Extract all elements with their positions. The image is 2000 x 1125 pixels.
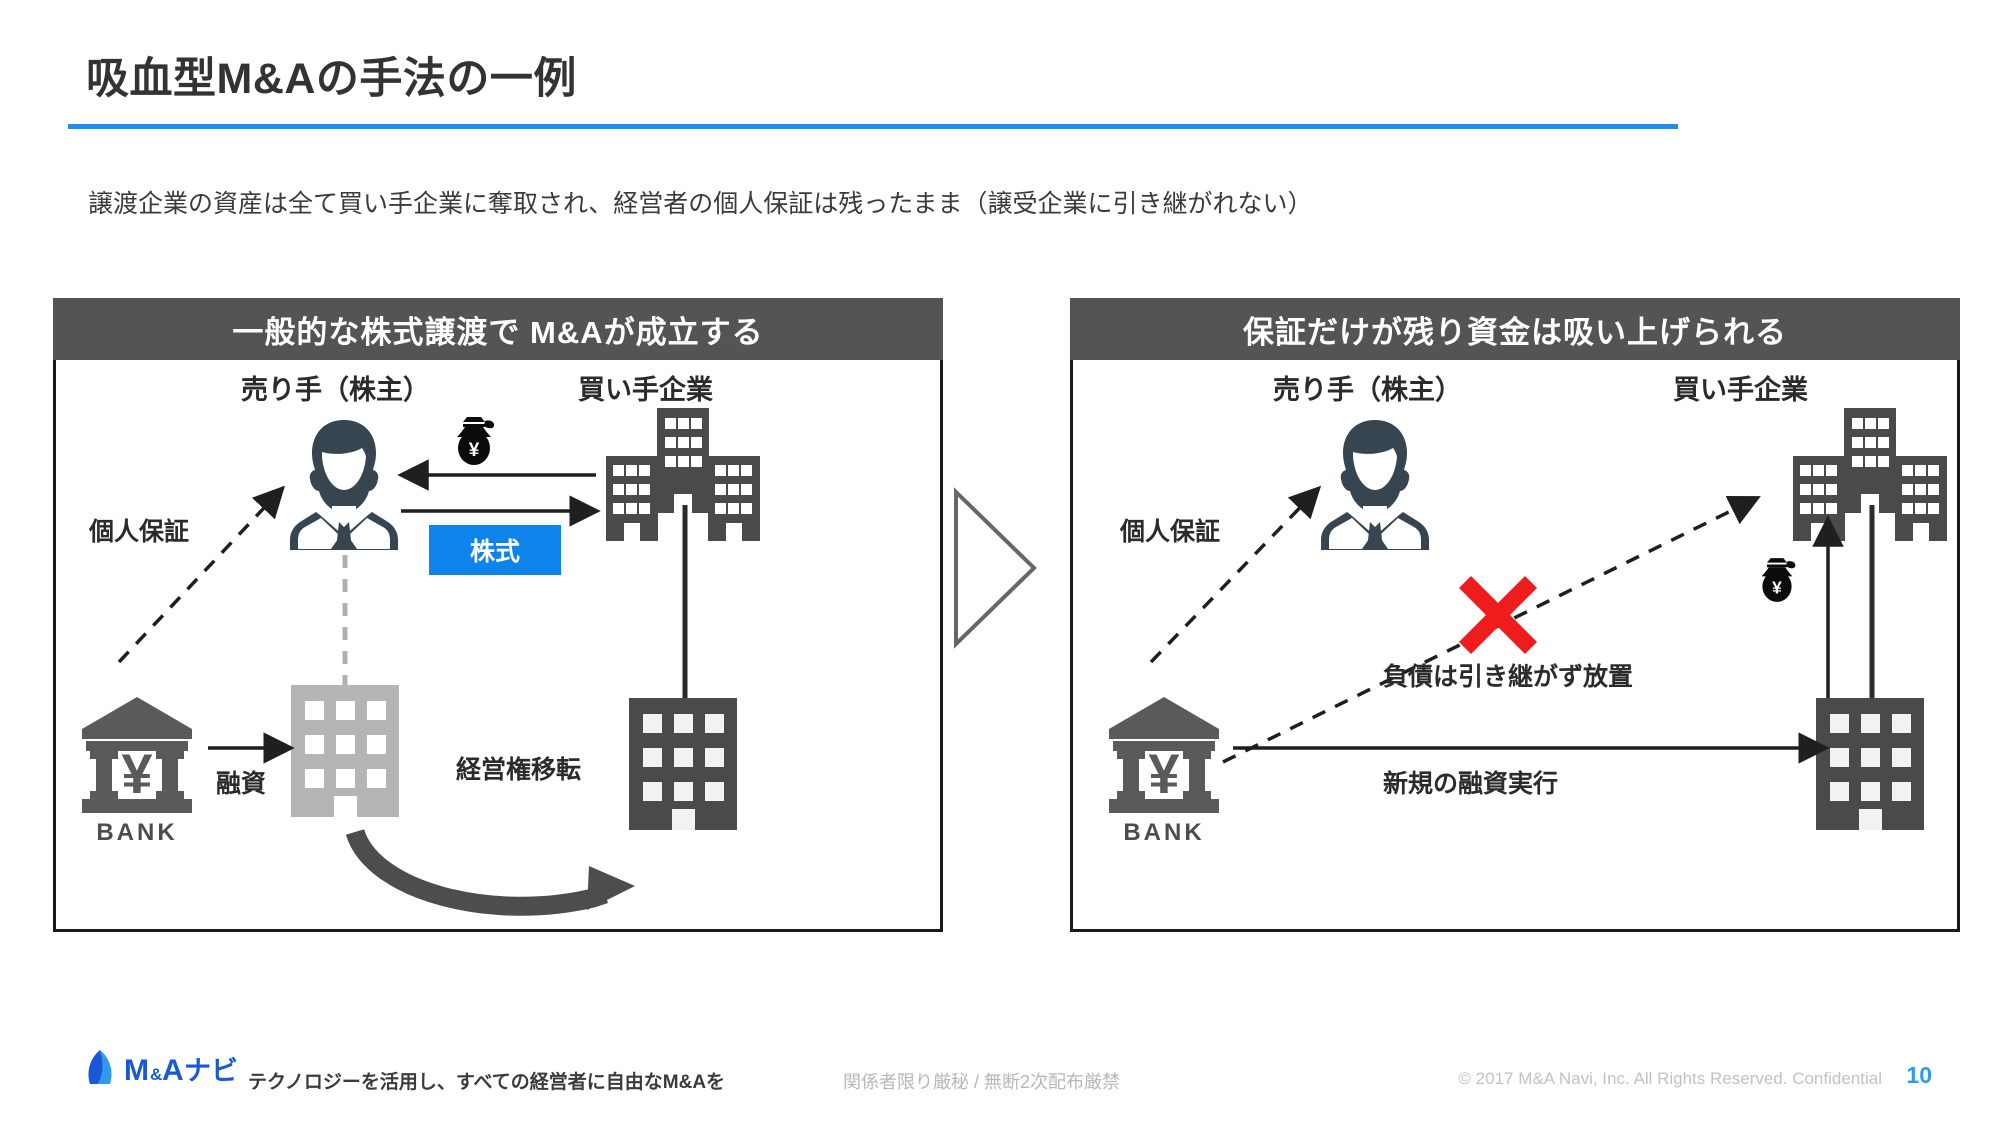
right-money-bag-icon: ¥: [1756, 556, 1798, 604]
panel-vampire-ma: 保証だけが残り資金は吸い上げられる 売り手（株主） 買い手企業 個人保証: [1070, 298, 1960, 932]
svg-text:¥: ¥: [1772, 578, 1782, 598]
right-bank-label: BANK: [1105, 819, 1223, 847]
right-bank-icon: ¥: [1105, 695, 1223, 815]
right-subsidiary-connector-line: [1869, 505, 1875, 701]
svg-text:A: A: [162, 1054, 184, 1087]
right-acquired-company-building-icon: [1816, 698, 1924, 830]
footer-confidential-note: 関係者限り厳秘 / 無断2次配布厳禁: [843, 1068, 1120, 1094]
stock-badge: 株式: [429, 525, 561, 575]
right-seller-label: 売り手（株主）: [1273, 368, 1462, 407]
ownership-dashed-line: [342, 555, 348, 685]
acquired-company-building-icon: [629, 698, 737, 830]
svg-text:ナビ: ナビ: [184, 1056, 238, 1086]
flow-direction-triangle-icon: [952, 488, 1038, 648]
loan-label: 融資: [216, 764, 266, 800]
bank-icon: ¥: [78, 695, 196, 815]
panel-left-header: 一般的な株式譲渡で M&Aが成立する: [53, 298, 943, 360]
subsidiary-connector-line: [682, 505, 688, 701]
footer-tagline: テクノロジーを活用し、すべての経営者に自由なM&Aを: [248, 1067, 725, 1094]
blocked-x-icon: [1455, 572, 1541, 658]
svg-text:¥: ¥: [469, 440, 480, 461]
svg-text:M: M: [124, 1054, 149, 1087]
target-company-building-icon: [291, 685, 399, 817]
new-loan-arrow: [1231, 738, 1831, 760]
management-transfer-label: 経営権移転: [456, 750, 581, 786]
guarantee-dashed-arrow: [111, 480, 296, 670]
new-loan-label: 新規の融資実行: [1383, 764, 1558, 800]
title-underline-rule: [68, 124, 1678, 129]
debt-label: 負債は引き継がず放置: [1383, 657, 1633, 693]
panel-right-header: 保証だけが残り資金は吸い上げられる: [1070, 298, 1960, 360]
svg-text:¥: ¥: [121, 742, 152, 805]
panel-right-body: 売り手（株主） 買い手企業 個人保証: [1070, 360, 1960, 932]
management-transfer-curved-arrow: [343, 830, 663, 925]
panel-right-header-label: 保証だけが残り資金は吸い上げられる: [1243, 307, 1787, 352]
page-subtitle: 譲渡企業の資産は全て買い手企業に奪取され、経営者の個人保証は残ったまま（譲受企業…: [88, 184, 1313, 220]
left-bank-label: BANK: [78, 819, 196, 847]
panel-left-body: 売り手（株主） 買い手企業 個人保証: [53, 360, 943, 932]
svg-text:&: &: [150, 1065, 162, 1084]
left-buyer-label: 買い手企業: [578, 368, 713, 407]
left-seller-label: 売り手（株主）: [241, 368, 430, 407]
page-number: 10: [1906, 1062, 1932, 1089]
svg-text:¥: ¥: [1148, 742, 1179, 805]
right-buyer-label: 買い手企業: [1673, 368, 1808, 407]
money-bag-icon: ¥: [451, 415, 497, 467]
cash-extraction-arrow: [1815, 510, 1841, 702]
company-logo: M & A ナビ: [82, 1048, 234, 1088]
panel-left-header-label: 一般的な株式譲渡で M&Aが成立する: [232, 307, 763, 352]
page-title: 吸血型M&Aの手法の一例: [86, 44, 577, 106]
footer-copyright: © 2017 M&A Navi, Inc. All Rights Reserve…: [1458, 1069, 1882, 1089]
panel-standard-ma: 一般的な株式譲渡で M&Aが成立する 売り手（株主） 買い手企業 個人保証: [53, 298, 943, 932]
loan-arrow: [206, 738, 294, 760]
